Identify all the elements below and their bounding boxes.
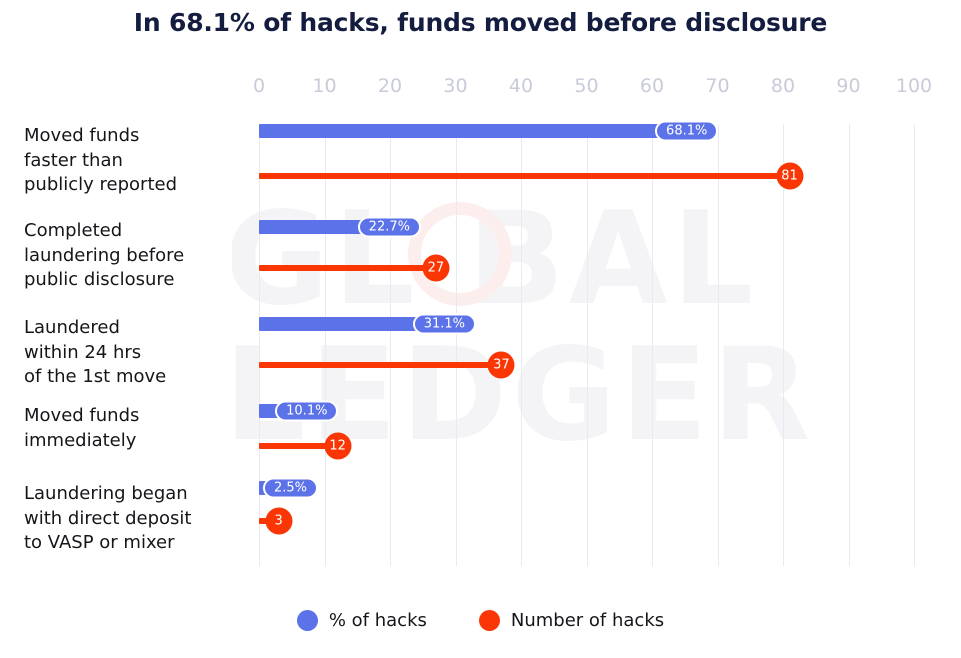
bar-count-2[interactable] [259,362,501,368]
circle-marker-red [479,610,500,631]
bar-count-0[interactable] [259,173,790,179]
x-tick-0: 0 [253,75,265,97]
chart-root: GL BAL LEDGER In 68.1% of hacks, funds m… [0,0,961,658]
chart-title: In 68.1% of hacks, funds moved before di… [0,8,961,37]
bar-row-3: 10.1%12 [259,404,914,474]
legend-item-1[interactable]: Number of hacks [479,610,664,631]
category-0-line-0: Moved funds [24,124,244,149]
x-tick-60: 60 [640,75,664,97]
category-4-line-0: Laundering began [24,482,244,507]
category-label-1: Completedlaundering beforepublic disclos… [24,219,244,293]
bar-row-2: 31.1%37 [259,317,914,387]
category-label-0: Moved fundsfaster thanpublicly reported [24,124,244,198]
x-tick-20: 20 [378,75,402,97]
x-axis-tick-labels: 0102030405060708090100 [259,75,914,99]
category-2-line-2: of the 1st move [24,365,244,390]
bar-percent-label-2: 31.1% [413,314,476,335]
category-4-line-2: to VASP or mixer [24,531,244,556]
legend-item-0[interactable]: % of hacks [297,610,427,631]
x-tick-100: 100 [896,75,932,97]
legend-label-1: Number of hacks [511,610,664,631]
x-tick-70: 70 [705,75,729,97]
category-0-line-1: faster than [24,149,244,174]
category-label-4: Laundering beganwith direct depositto VA… [24,482,244,556]
bar-row-0: 68.1%81 [259,124,914,194]
category-labels: Moved fundsfaster thanpublicly reportedC… [24,124,244,566]
category-4-line-1: with direct deposit [24,507,244,532]
bar-percent-0[interactable] [259,124,705,138]
x-tick-30: 30 [443,75,467,97]
category-1-line-1: laundering before [24,244,244,269]
x-tick-90: 90 [836,75,860,97]
category-0-line-2: publicly reported [24,173,244,198]
bar-percent-label-4: 2.5% [263,478,318,499]
category-2-line-0: Laundered [24,316,244,341]
category-label-2: Launderedwithin 24 hrsof the 1st move [24,316,244,390]
x-tick-10: 10 [312,75,336,97]
bar-percent-label-0: 68.1% [655,121,718,142]
bar-percent-label-1: 22.7% [358,217,421,238]
bar-row-4: 2.5%3 [259,481,914,551]
x-tick-80: 80 [771,75,795,97]
legend-label-0: % of hacks [329,610,427,631]
bar-percent-label-3: 10.1% [275,401,338,422]
bar-series-group: 68.1%8122.7%2731.1%3710.1%122.5%3 [259,124,914,566]
bar-count-label-4: 3 [265,508,292,535]
gridline-100 [914,124,915,566]
bar-row-1: 22.7%27 [259,220,914,290]
category-1-line-0: Completed [24,219,244,244]
category-label-3: Moved fundsimmediately [24,404,244,453]
bar-count-label-0: 81 [776,163,803,190]
category-1-line-2: public disclosure [24,268,244,293]
category-3-line-1: immediately [24,429,244,454]
bar-count-label-1: 27 [422,255,449,282]
chart-legend: % of hacksNumber of hacks [0,610,961,631]
category-3-line-0: Moved funds [24,404,244,429]
bar-count-label-3: 12 [324,433,351,460]
x-tick-50: 50 [574,75,598,97]
category-2-line-1: within 24 hrs [24,341,244,366]
bar-count-label-2: 37 [488,352,515,379]
bar-count-1[interactable] [259,265,436,271]
x-tick-40: 40 [509,75,533,97]
circle-marker-blue [297,610,318,631]
